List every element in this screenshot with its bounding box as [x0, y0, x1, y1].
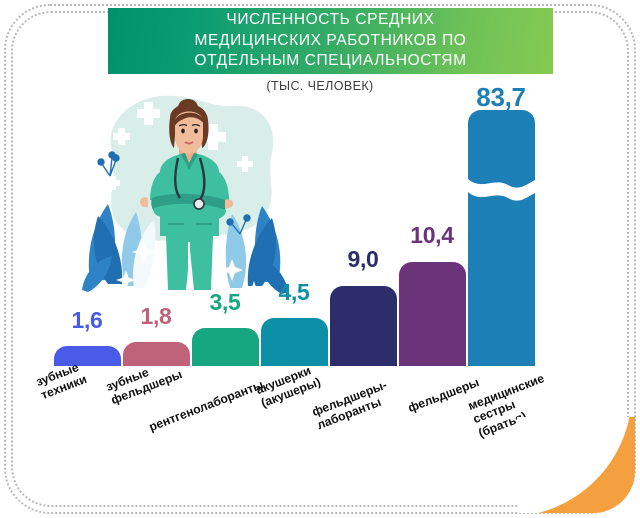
bar-rect-4[interactable] — [261, 318, 328, 366]
bar-column-5 — [330, 0, 397, 366]
category-label-5: фельдшеры- лаборанты — [310, 378, 394, 433]
axis-break-wave — [468, 179, 535, 205]
category-label-1: зубные техники — [34, 359, 89, 403]
bar-rect-5[interactable] — [330, 286, 397, 366]
bar-column-6 — [399, 0, 466, 366]
bar-rect-6[interactable] — [399, 262, 466, 366]
bar-rect-1[interactable] — [54, 346, 121, 366]
bar-rect-3[interactable] — [192, 328, 259, 366]
bar-rect-7[interactable] — [468, 110, 535, 366]
bar-column-7 — [468, 0, 535, 366]
corner-decor-orange — [517, 417, 635, 513]
infographic-poster: ЧИСЛЕННОСТЬ СРЕДНИХ МЕДИЦИНСКИХ РАБОТНИК… — [0, 0, 640, 518]
bar-value-label-7: 83,7 — [441, 82, 561, 113]
bar-column-4 — [261, 0, 328, 366]
category-label-4: акушерки (акушеры) — [254, 362, 323, 411]
